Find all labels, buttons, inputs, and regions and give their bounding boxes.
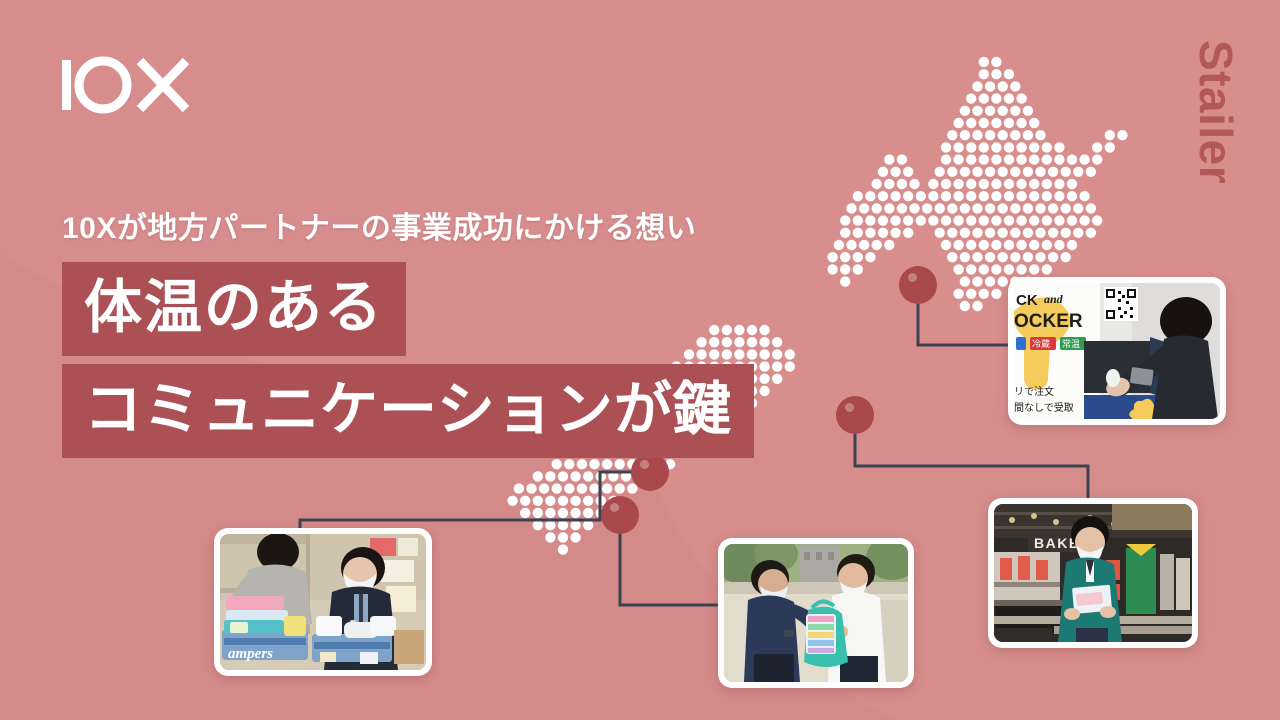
photo-card-delivery-handoff[interactable] — [718, 538, 914, 688]
svg-text:冷蔵: 冷蔵 — [1032, 338, 1050, 350]
10x-logo[interactable] — [62, 56, 190, 114]
photo-card-store-staff[interactable]: BAKERY — [988, 498, 1198, 648]
map-pin-chugoku[interactable] — [631, 453, 669, 491]
svg-text:リで注文: リで注文 — [1014, 385, 1054, 398]
pickup-locker-photo: CK and OCKER 冷蔵 常温 リで注文 間なしで受取 — [1014, 283, 1220, 419]
stailer-wordmark: Stailer — [1189, 40, 1243, 260]
hero-headline-line-1: 体温のある — [62, 262, 406, 356]
map-pin-kansai[interactable] — [836, 396, 874, 434]
delivery-handoff-photo — [724, 544, 908, 682]
photo-card-pickup-locker[interactable]: CK and OCKER 冷蔵 常温 リで注文 間なしで受取 — [1008, 277, 1226, 425]
svg-text:間なしで受取: 間なしで受取 — [1014, 402, 1074, 414]
map-pin-kyushu[interactable] — [601, 496, 639, 534]
svg-text:OCKER: OCKER — [1014, 311, 1083, 332]
svg-text:CK: CK — [1016, 292, 1038, 309]
map-pin-tohoku[interactable] — [899, 266, 937, 304]
svg-text:ampers: ampers — [228, 646, 273, 662]
store-staff-photo: BAKERY — [994, 504, 1192, 642]
photo-card-backroom-picking[interactable]: ampers — [214, 528, 432, 676]
backroom-picking-photo: ampers — [220, 534, 426, 670]
svg-text:and: and — [1044, 292, 1064, 306]
hero-eyebrow: 10Xが地方パートナーの事業成功にかける想い — [62, 203, 696, 247]
hero-banner: Stailer 10Xが地方パートナーの事業成功にかける想い 体温のある コミュ… — [0, 0, 1280, 720]
hero-headline-line-2: コミュニケーションが鍵 — [62, 364, 754, 458]
svg-text:常温: 常温 — [1062, 338, 1080, 350]
hero-headline: 体温のある コミュニケーションが鍵 — [62, 262, 754, 458]
